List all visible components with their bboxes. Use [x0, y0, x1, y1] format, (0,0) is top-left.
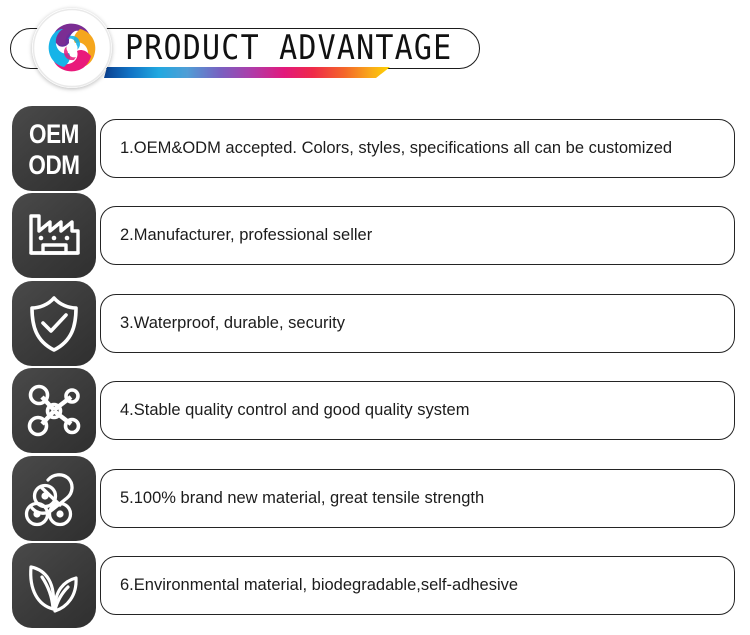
advantage-pill-5: 5.100% brand new material, great tensile… — [100, 469, 735, 528]
banner-header: PRODUCT ADVANTAGE — [0, 0, 750, 98]
company-swirl-logo-icon — [32, 8, 112, 88]
factory-icon — [12, 193, 96, 278]
advantage-pill-4: 4.Stable quality control and good qualit… — [100, 381, 735, 440]
advantage-text-4: 4.Stable quality control and good qualit… — [120, 382, 469, 439]
advantage-text-6: 6.Environmental material, biodegradable,… — [120, 557, 518, 614]
advantage-row-6: 6.Environmental material, biodegradable,… — [0, 543, 750, 628]
advantage-row-2: 2.Manufacturer, professional seller — [0, 193, 750, 278]
molecule-network-icon — [12, 368, 96, 453]
advantage-text-3: 3.Waterproof, durable, security — [120, 295, 345, 352]
advantage-text-1: 1.OEM&ODM accepted. Colors, styles, spec… — [120, 120, 672, 177]
product-advantage-banner: PRODUCT ADVANTAGE OEM ODM 1.OEM&ODM acce… — [0, 0, 750, 635]
advantage-pill-1: 1.OEM&ODM accepted. Colors, styles, spec… — [100, 119, 735, 178]
tape-rolls-icon — [12, 456, 96, 541]
advantage-row-3: 3.Waterproof, durable, security — [0, 281, 750, 366]
advantage-row-4: 4.Stable quality control and good qualit… — [0, 368, 750, 453]
advantage-pill-2: 2.Manufacturer, professional seller — [100, 206, 735, 265]
shield-check-icon — [12, 281, 96, 366]
oem-odm-icon: OEM ODM — [12, 106, 96, 191]
page-title: PRODUCT ADVANTAGE — [125, 24, 475, 72]
leaves-eco-icon — [12, 543, 96, 628]
advantage-pill-6: 6.Environmental material, biodegradable,… — [100, 556, 735, 615]
advantage-row-5: 5.100% brand new material, great tensile… — [0, 456, 750, 541]
advantage-text-5: 5.100% brand new material, great tensile… — [120, 470, 484, 527]
advantage-text-2: 2.Manufacturer, professional seller — [120, 207, 372, 264]
advantage-row-1: OEM ODM 1.OEM&ODM accepted. Colors, styl… — [0, 106, 750, 191]
advantage-pill-3: 3.Waterproof, durable, security — [100, 294, 735, 353]
oem-label: OEM — [12, 119, 96, 150]
odm-label: ODM — [12, 150, 96, 181]
